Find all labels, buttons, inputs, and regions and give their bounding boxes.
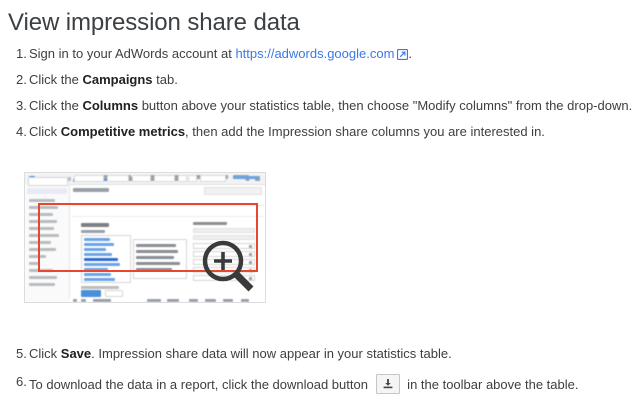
mock-toolbar-search	[200, 175, 226, 182]
mock-list-item	[84, 243, 114, 246]
step-text-pre: To download the data in a report, click …	[29, 377, 372, 392]
mock-save-button	[81, 290, 101, 297]
step-text-bold: Campaigns	[82, 72, 152, 87]
mock-toolbar-download	[188, 175, 197, 182]
mock-date-range	[204, 187, 262, 195]
step-text-pre: Click the	[29, 98, 82, 113]
mock-list-item	[84, 253, 112, 256]
mock-sidebar-item	[29, 255, 46, 258]
mock-toolbar	[72, 207, 264, 217]
screenshot-mock-ui	[25, 173, 265, 302]
mock-page-heading	[73, 188, 109, 192]
mock-toolbar-segment	[107, 175, 129, 182]
step-text-pre: Click	[29, 346, 61, 361]
mock-list-item	[84, 263, 120, 266]
mock-list-item	[84, 268, 108, 271]
step-text-pre: Sign in to your AdWords account at	[29, 46, 235, 61]
mock-sidebar-item	[29, 276, 57, 279]
step-text-post: in the toolbar above the table.	[404, 377, 579, 392]
mock-column-row	[136, 250, 178, 253]
external-link-icon	[397, 48, 408, 59]
mock-list-item	[84, 273, 111, 276]
download-icon[interactable]	[376, 374, 400, 394]
mock-toolbar-link	[233, 176, 259, 179]
mock-dialog-footer	[81, 286, 141, 297]
mock-sidebar-item	[29, 262, 39, 265]
mock-selected-field	[193, 259, 255, 265]
step-text-bold: Columns	[82, 98, 138, 113]
step-text-bold: Competitive metrics	[61, 124, 185, 139]
mock-statistics-table	[69, 299, 266, 303]
mock-selected-band	[193, 228, 255, 233]
mock-toolbar-filter	[74, 175, 104, 182]
mock-sidebar-item	[29, 269, 53, 272]
step-text-post: button above your statistics table, then…	[138, 98, 632, 113]
step-number: 1.	[16, 46, 27, 62]
adwords-screenshot-thumbnail[interactable]	[24, 172, 266, 303]
step-item-1: 1.Sign in to your AdWords account at htt…	[0, 46, 643, 62]
mock-modify-columns-dialog	[75, 219, 261, 284]
page-title: View impression share data	[8, 8, 300, 38]
step-text-post: , then add the Impression share columns …	[185, 124, 545, 139]
mock-sidebar-item	[29, 213, 53, 216]
mock-dialog-title	[81, 223, 109, 227]
mock-column-row	[136, 244, 176, 247]
mock-sidebar-item	[29, 220, 57, 223]
step-text-post: . Impression share data will now appear …	[91, 346, 452, 361]
help-article-page: View impression share data 1.Sign in to …	[0, 0, 643, 406]
mock-sidebar-item	[29, 227, 54, 230]
mock-column-row	[136, 268, 172, 271]
mock-sidebar-all-campaigns	[27, 188, 67, 194]
step-number: 3.	[16, 98, 27, 114]
step-item-6: 6.To download the data in a report, clic…	[0, 374, 643, 394]
mock-list-item	[84, 238, 110, 241]
step-number: 4.	[16, 124, 27, 140]
step-number: 2.	[16, 72, 27, 88]
mock-selected-title	[193, 222, 227, 225]
step-text-post: .	[408, 46, 412, 61]
mock-sidebar-item	[29, 199, 55, 202]
step-number: 6.	[16, 374, 27, 390]
mock-selected-band	[193, 235, 255, 240]
step-item-2: 2.Click the Campaigns tab.	[0, 72, 643, 88]
step-text-pre: Click the	[29, 72, 82, 87]
mock-column-row	[136, 256, 174, 259]
mock-sidebar-item	[29, 241, 51, 244]
mock-available-columns	[133, 239, 187, 279]
adwords-link[interactable]: https://adwords.google.com	[235, 46, 394, 61]
steps-list-continued: 5.Click Save. Impression share data will…	[0, 346, 643, 404]
mock-selected-field	[193, 251, 255, 257]
step-text-pre: Click	[29, 124, 61, 139]
mock-cancel-button	[105, 290, 123, 297]
mock-sidebar-search	[28, 177, 68, 186]
step-item-3: 3.Click the Columns button above your st…	[0, 98, 643, 114]
mock-tab-row	[72, 197, 264, 206]
mock-selected-field	[193, 243, 255, 249]
mock-selected-field	[193, 267, 255, 273]
mock-list-item	[84, 278, 115, 281]
mock-list-item	[84, 248, 106, 251]
step-text-bold: Save	[61, 346, 91, 361]
mock-selected-columns	[193, 222, 255, 282]
step-item-5: 5.Click Save. Impression share data will…	[0, 346, 643, 362]
step-number: 5.	[16, 346, 27, 362]
mock-list-item-competitive-metrics	[84, 258, 118, 261]
mock-sidebar-item	[29, 283, 55, 286]
mock-column-row	[136, 262, 180, 265]
mock-dialog-subtitle	[81, 230, 105, 233]
mock-sidebar-item	[29, 248, 56, 251]
mock-selected-field	[193, 275, 255, 281]
mock-sidebar-item	[29, 206, 58, 209]
mock-toolbar-columns	[154, 175, 175, 182]
mock-toolbar-icon	[178, 175, 187, 182]
mock-toolbar-filter2	[132, 175, 151, 182]
step-text-post: tab.	[153, 72, 178, 87]
step-item-4: 4.Click Competitive metrics, then add th…	[0, 124, 643, 140]
steps-list: 1.Sign in to your AdWords account at htt…	[0, 46, 643, 150]
mock-footer-note	[81, 286, 119, 289]
mock-metric-category-list	[81, 235, 131, 283]
mock-sidebar-item	[29, 234, 59, 237]
